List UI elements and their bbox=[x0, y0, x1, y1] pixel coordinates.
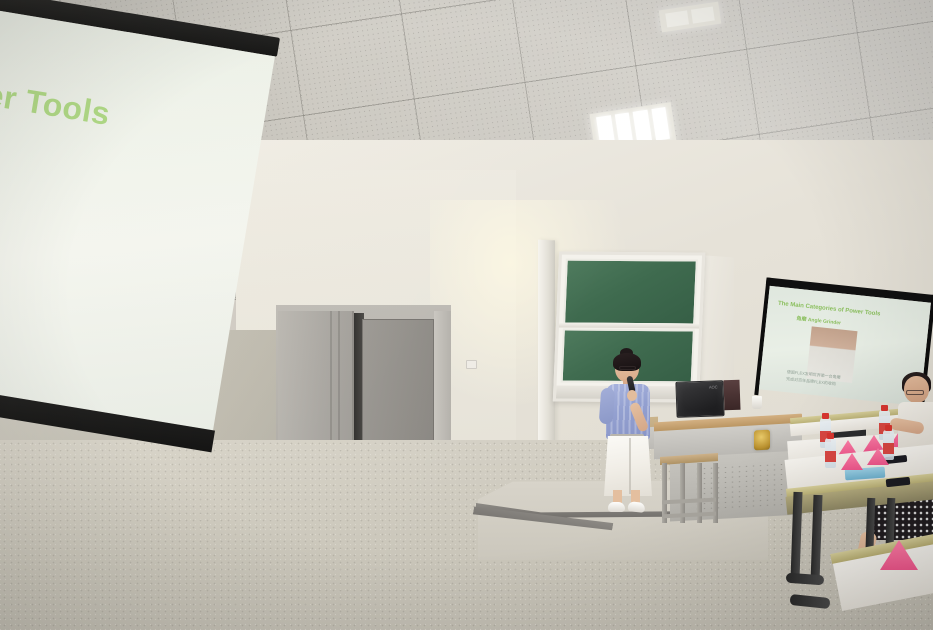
presenter-shoe-left bbox=[608, 502, 625, 512]
bottle-cap bbox=[885, 425, 892, 431]
presenter-shoe-right bbox=[628, 501, 646, 513]
bottle-cap bbox=[827, 433, 834, 439]
trouser-fold bbox=[629, 438, 631, 494]
monitor-brand-label: AOC bbox=[709, 384, 718, 389]
slide-subtitle-secondary: 角磨 Angle Grinder bbox=[796, 315, 841, 327]
stool-rung bbox=[662, 512, 716, 519]
presenter-trousers bbox=[604, 436, 652, 496]
bottle-label bbox=[883, 443, 894, 454]
bottle-label bbox=[825, 451, 836, 462]
presenter-sleeve-left bbox=[599, 388, 615, 425]
stool[interactable] bbox=[660, 455, 718, 523]
slide-body-line-1: ，德国FLEX发明世界第一台角磨 bbox=[0, 312, 82, 395]
light-louver bbox=[691, 7, 715, 24]
water-bottle bbox=[825, 438, 836, 468]
water-bottle bbox=[883, 430, 894, 460]
presenter-hand bbox=[627, 390, 637, 401]
presenter bbox=[600, 350, 658, 515]
blackboard-slide-rail bbox=[559, 323, 699, 329]
blackboard-panel-upper bbox=[563, 259, 698, 326]
stool-seat bbox=[660, 453, 718, 465]
light-louver bbox=[665, 10, 689, 27]
light-louver bbox=[651, 107, 670, 141]
glasses-icon bbox=[906, 390, 924, 395]
school-emblem-icon bbox=[754, 430, 770, 451]
stool-rung bbox=[662, 498, 716, 505]
bottle-cap bbox=[881, 405, 888, 411]
glasses-icon bbox=[619, 366, 636, 370]
equipment-box bbox=[723, 380, 740, 411]
lecture-hall-photo: 欢迎光临 AOC bbox=[0, 0, 933, 630]
light-louver bbox=[633, 110, 652, 144]
light-switch[interactable] bbox=[466, 360, 477, 369]
bottle-cap bbox=[822, 413, 829, 419]
